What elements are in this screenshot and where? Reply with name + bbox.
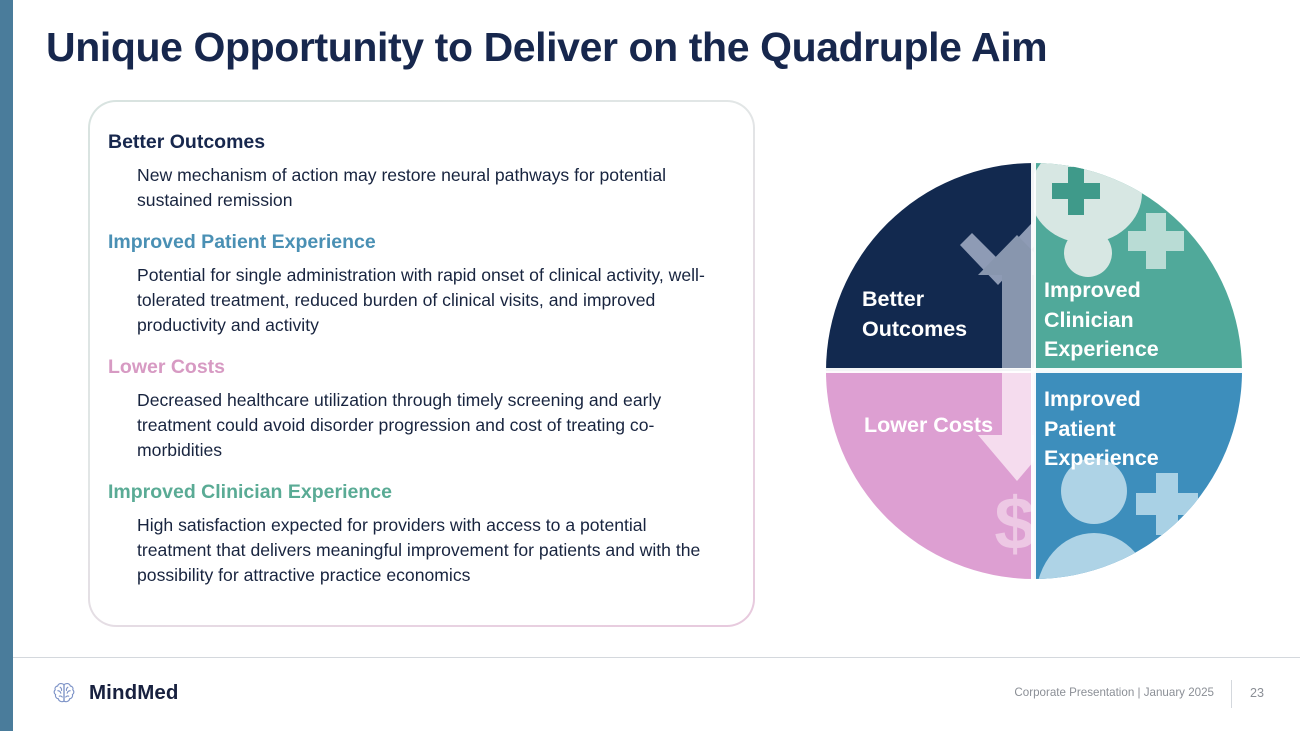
quadrant-lower-costs: $ — [826, 371, 1056, 579]
brand-logo: MindMed — [50, 679, 179, 707]
section-heading-improved-clinician-experience: Improved Clinician Experience — [108, 480, 719, 505]
footer-meta: Corporate Presentation | January 2025 — [1014, 686, 1214, 699]
footer-separator — [1231, 680, 1232, 708]
section-body-improved-patient-experience: Potential for single administration with… — [108, 263, 718, 338]
section-body-improved-clinician-experience: High satisfaction expected for providers… — [108, 513, 718, 588]
dollar-icon: $ — [994, 482, 1035, 565]
section-heading-lower-costs: Lower Costs — [108, 355, 719, 380]
clinician-head-icon — [1064, 229, 1112, 277]
section-heading-improved-patient-experience: Improved Patient Experience — [108, 230, 719, 255]
quadrant-divider-horizontal — [826, 368, 1242, 373]
page-number: 23 — [1250, 686, 1264, 700]
content-card-inner: Better Outcomes New mechanism of action … — [90, 102, 753, 625]
section-better-outcomes: Better Outcomes New mechanism of action … — [108, 130, 719, 213]
quadrant-label-improved-clinician-experience: Improved Clinician Experience — [1044, 276, 1159, 365]
diagram-svg: $ — [826, 163, 1242, 579]
content-card: Better Outcomes New mechanism of action … — [88, 100, 755, 627]
brand-name: MindMed — [89, 681, 179, 705]
footer-divider — [13, 657, 1300, 658]
page-title: Unique Opportunity to Deliver on the Qua… — [46, 24, 1047, 71]
section-lower-costs: Lower Costs Decreased healthcare utiliza… — [108, 355, 719, 463]
quadrant-label-lower-costs: Lower Costs — [864, 411, 993, 441]
section-body-lower-costs: Decreased healthcare utilization through… — [108, 388, 718, 463]
brain-icon — [50, 679, 78, 707]
left-accent-bar — [0, 0, 13, 731]
quadrant-label-better-outcomes: Better Outcomes — [862, 285, 967, 344]
section-body-better-outcomes: New mechanism of action may restore neur… — [108, 163, 718, 213]
quadrant-label-improved-patient-experience: Improved Patient Experience — [1044, 385, 1159, 474]
section-improved-patient-experience: Improved Patient Experience Potential fo… — [108, 230, 719, 338]
section-improved-clinician-experience: Improved Clinician Experience High satis… — [108, 480, 719, 588]
quadruple-aim-diagram: $ Better Outcomes Improved Clinician Exp… — [826, 163, 1242, 579]
section-heading-better-outcomes: Better Outcomes — [108, 130, 719, 155]
